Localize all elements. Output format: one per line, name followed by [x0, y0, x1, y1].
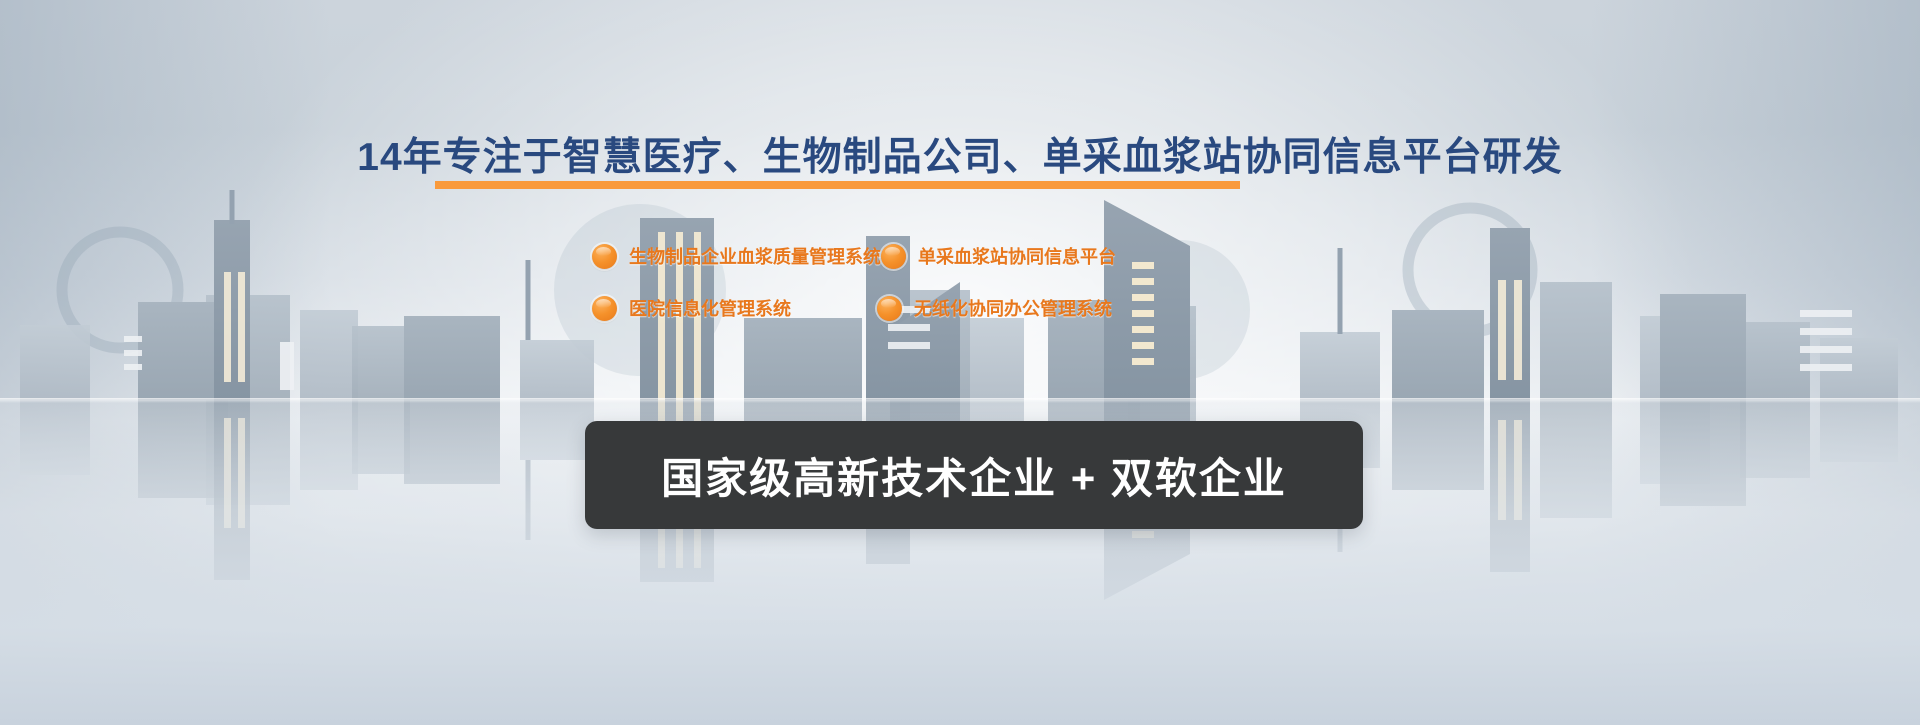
slogan-text: 国家级高新技术企业 + 双软企业 [661, 445, 1287, 506]
orange-dot-icon [881, 244, 906, 269]
feature-item-hospital-info[interactable]: 医院信息化管理系统 [592, 282, 877, 334]
headline-underline-rule [435, 181, 1240, 189]
feature-list: 生物制品企业血浆质量管理系统 单采血浆站协同信息平台 医院信息化管理系统 无纸化… [592, 230, 1112, 334]
feature-label: 生物制品企业血浆质量管理系统 [629, 243, 881, 269]
feature-item-plasma-quality[interactable]: 生物制品企业血浆质量管理系统 [592, 230, 881, 282]
feature-label: 单采血浆站协同信息平台 [918, 243, 1116, 269]
feature-item-paperless-office[interactable]: 无纸化协同办公管理系统 [877, 282, 1112, 334]
slogan-badge: 国家级高新技术企业 + 双软企业 [585, 421, 1363, 529]
feature-row: 医院信息化管理系统 无纸化协同办公管理系统 [592, 282, 1112, 334]
banner-headline: 14年专注于智慧医疗、生物制品公司、单采血浆站协同信息平台研发 [0, 126, 1920, 182]
feature-item-plasma-station[interactable]: 单采血浆站协同信息平台 [881, 230, 1116, 282]
feature-row: 生物制品企业血浆质量管理系统 单采血浆站协同信息平台 [592, 230, 1112, 282]
feature-label: 医院信息化管理系统 [629, 295, 791, 321]
orange-dot-icon [877, 296, 902, 321]
feature-label: 无纸化协同办公管理系统 [914, 295, 1112, 321]
orange-dot-icon [592, 296, 617, 321]
banner-content: 14年专注于智慧医疗、生物制品公司、单采血浆站协同信息平台研发 生物制品企业血浆… [0, 0, 1920, 725]
hero-banner: 14年专注于智慧医疗、生物制品公司、单采血浆站协同信息平台研发 生物制品企业血浆… [0, 0, 1920, 725]
orange-dot-icon [592, 244, 617, 269]
